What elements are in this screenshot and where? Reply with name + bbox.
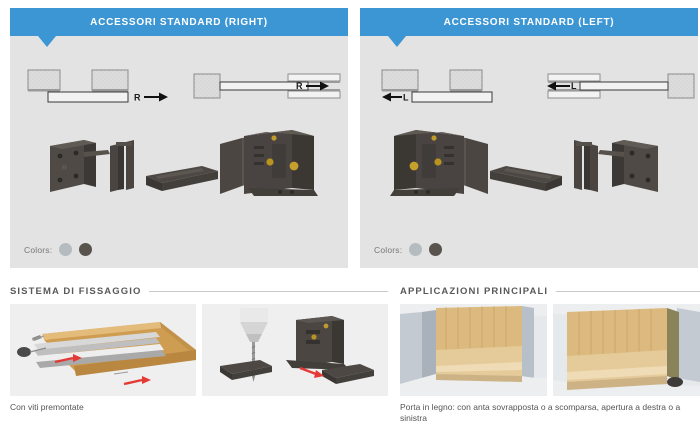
color-swatch-dark-brown-left[interactable] [429,243,442,256]
bottom-sections: SISTEMA DI FISSAGGIO [0,268,700,425]
svg-text:R: R [62,165,67,172]
technical-diagrams-left: L L [372,48,686,106]
panel-header-left: ACCESSORI STANDARD (LEFT) [360,8,698,36]
color-swatch-dark-brown-right[interactable] [79,243,92,256]
accessories-panels: ACCESSORI STANDARD (RIGHT) [0,0,700,268]
color-swatch-light-grey-left[interactable] [409,243,422,256]
panel-notch-right [38,36,56,47]
rail-track-l [490,166,562,191]
thumb-wood-door-rail-assembly[interactable] [10,304,196,396]
thumb-wood-door-in-frame-right[interactable] [553,304,700,396]
product-render-left [372,110,686,220]
color-swatch-light-grey-right[interactable] [59,243,72,256]
section-header-applicazioni: APPLICAZIONI PRINCIPALI [400,286,700,297]
colors-row-left: Colors: [374,243,442,256]
section-rule-applicazioni [556,291,700,292]
thumb-wood-door-in-frame-left[interactable] [400,304,547,396]
diagram-overlay-right: R [22,56,192,106]
caption-applicazioni: Porta in legno: con anta sovrapposta o a… [400,402,700,425]
section-title-fissaggio: SISTEMA DI FISSAGGIO [10,286,141,297]
main-mechanism-l [390,130,488,196]
panel-title-right: ACCESSORI STANDARD (RIGHT) [90,17,268,28]
plate-bracket-r: R [50,140,110,192]
technical-diagrams-right: R R [22,48,336,106]
panel-body-left: L L [360,36,698,268]
diagram-pocket-right: R [192,56,352,106]
colors-label-left: Colors: [374,245,402,255]
section-applicazioni-principali: APPLICAZIONI PRINCIPALI [400,286,700,425]
diagram-overlay-left: L [372,56,542,106]
product-render-right: R [22,110,336,220]
panel-body-right: R R [10,36,348,268]
panel-notch-left [388,36,406,47]
main-mechanism-r [220,130,318,196]
u-channel-r [110,140,134,192]
thumbs-fissaggio [10,304,388,396]
colors-row-right: Colors: [24,243,92,256]
diagram-marker-left-2: L [571,81,577,91]
rail-track-r [146,166,218,191]
colors-label-right: Colors: [24,245,52,255]
u-channel-l [574,140,598,192]
diagram-marker-right-2: R [296,81,303,91]
plate-bracket-l [598,140,658,192]
panel-accessori-left: ACCESSORI STANDARD (LEFT) [360,8,698,268]
diagram-marker-right-1: R [134,93,141,103]
panel-title-left: ACCESSORI STANDARD (LEFT) [444,17,615,28]
diagram-pocket-left: L [542,56,700,106]
section-sistema-di-fissaggio: SISTEMA DI FISSAGGIO [10,286,388,425]
diagram-marker-left-1: L [403,93,409,103]
section-rule-fissaggio [149,291,388,292]
panel-header-right: ACCESSORI STANDARD (RIGHT) [10,8,348,36]
thumbs-applicazioni [400,304,700,396]
thumb-screwdriver-bracket-assembly[interactable] [202,304,388,396]
section-header-fissaggio: SISTEMA DI FISSAGGIO [10,286,388,297]
section-title-applicazioni: APPLICAZIONI PRINCIPALI [400,286,548,297]
caption-fissaggio: Con viti premontate [10,402,310,413]
panel-accessori-right: ACCESSORI STANDARD (RIGHT) [10,8,348,268]
